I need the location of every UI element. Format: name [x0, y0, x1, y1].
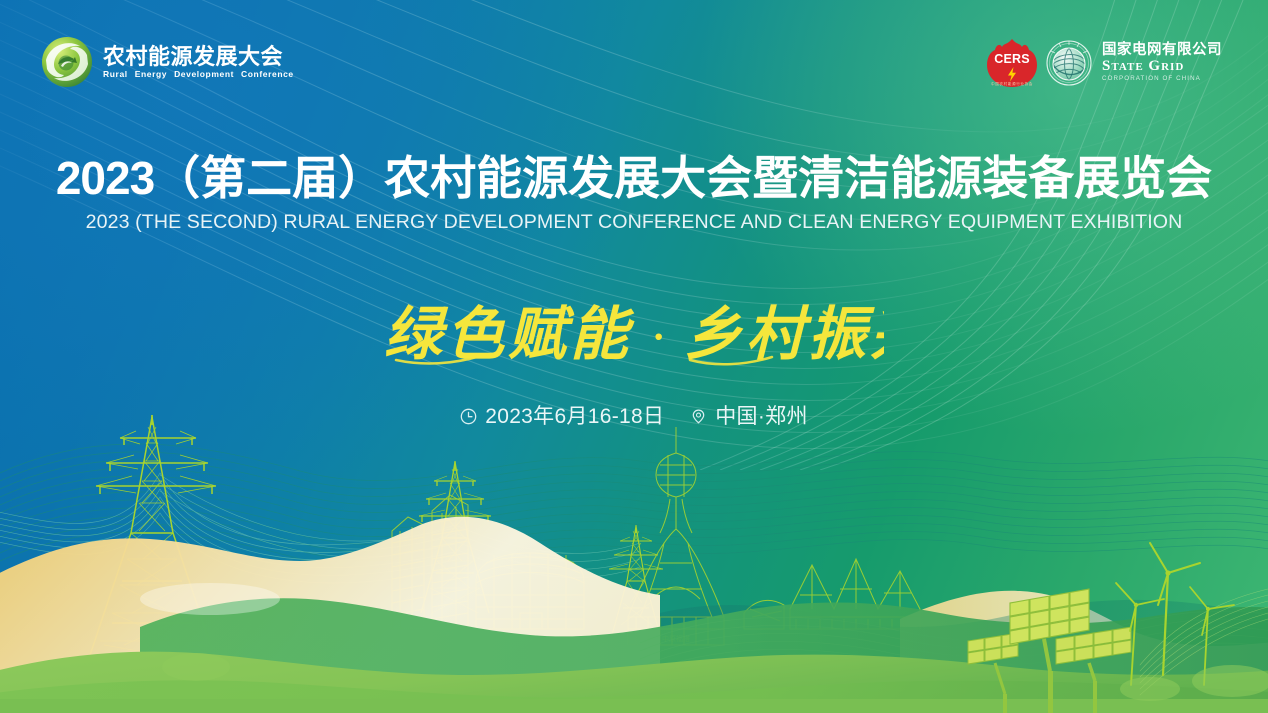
state-grid-name-en-rid: RID — [1161, 61, 1184, 73]
svg-text:中国农村能源行业协会: 中国农村能源行业协会 — [991, 81, 1033, 86]
slogan-left-text: 绿色赋能 — [384, 302, 635, 367]
conference-swirl-logo-icon — [40, 36, 94, 88]
state-grid-globe-icon — [1046, 39, 1092, 87]
state-grid-name-en: STATE GRID — [1102, 59, 1222, 75]
state-grid-name-en-g: G — [1148, 58, 1161, 74]
state-grid-name-sub: CORPORATION OF CHINA — [1102, 76, 1222, 83]
conference-logo[interactable]: 农村能源发展大会 Rural Energy Development Confer… — [40, 36, 294, 88]
page-title-rest: （第二届）农村能源发展大会暨清洁能源装备展览会 — [154, 152, 1212, 204]
page-subtitle: 2023 (THE SECOND) RURAL ENERGY DEVELOPME… — [0, 211, 1268, 235]
state-grid-name-cn: 国家电网有限公司 — [1102, 43, 1222, 58]
hill-highlight — [140, 583, 280, 615]
conference-logo-text: 农村能源发展大会 Rural Energy Development Confer… — [103, 46, 294, 79]
state-grid-text: 国家电网有限公司 STATE GRID CORPORATION OF CHINA — [1102, 43, 1222, 83]
conference-logo-title-en: Rural Energy Development Conference — [103, 70, 294, 79]
page-title-year: 2023 — [56, 152, 154, 204]
state-grid-name-en-s: S — [1102, 58, 1111, 74]
state-grid-name-en-tate: TATE — [1111, 61, 1143, 73]
conference-banner: 农村能源发展大会 Rural Energy Development Confer… — [0, 0, 1268, 713]
slogan-calligraphy-icon: 绿色赋能 · 乡村振兴 — [384, 294, 884, 376]
slogan-right-text: 乡村振兴 — [684, 302, 884, 367]
svg-text:CERS: CERS — [994, 52, 1030, 66]
conference-logo-title-cn: 农村能源发展大会 — [103, 46, 294, 68]
slogan: 绿色赋能 · 乡村振兴 — [0, 294, 1268, 376]
slogan-dot-text: · — [652, 314, 665, 359]
sponsor-logos[interactable]: CERS 中国农村能源行业协会 — [986, 38, 1222, 88]
page-title: 2023（第二届）农村能源发展大会暨清洁能源装备展览会 — [0, 152, 1268, 205]
scene-illustration: 中原福塔 — [0, 413, 1268, 713]
cers-flame-shield-icon: CERS 中国农村能源行业协会 — [986, 38, 1038, 88]
